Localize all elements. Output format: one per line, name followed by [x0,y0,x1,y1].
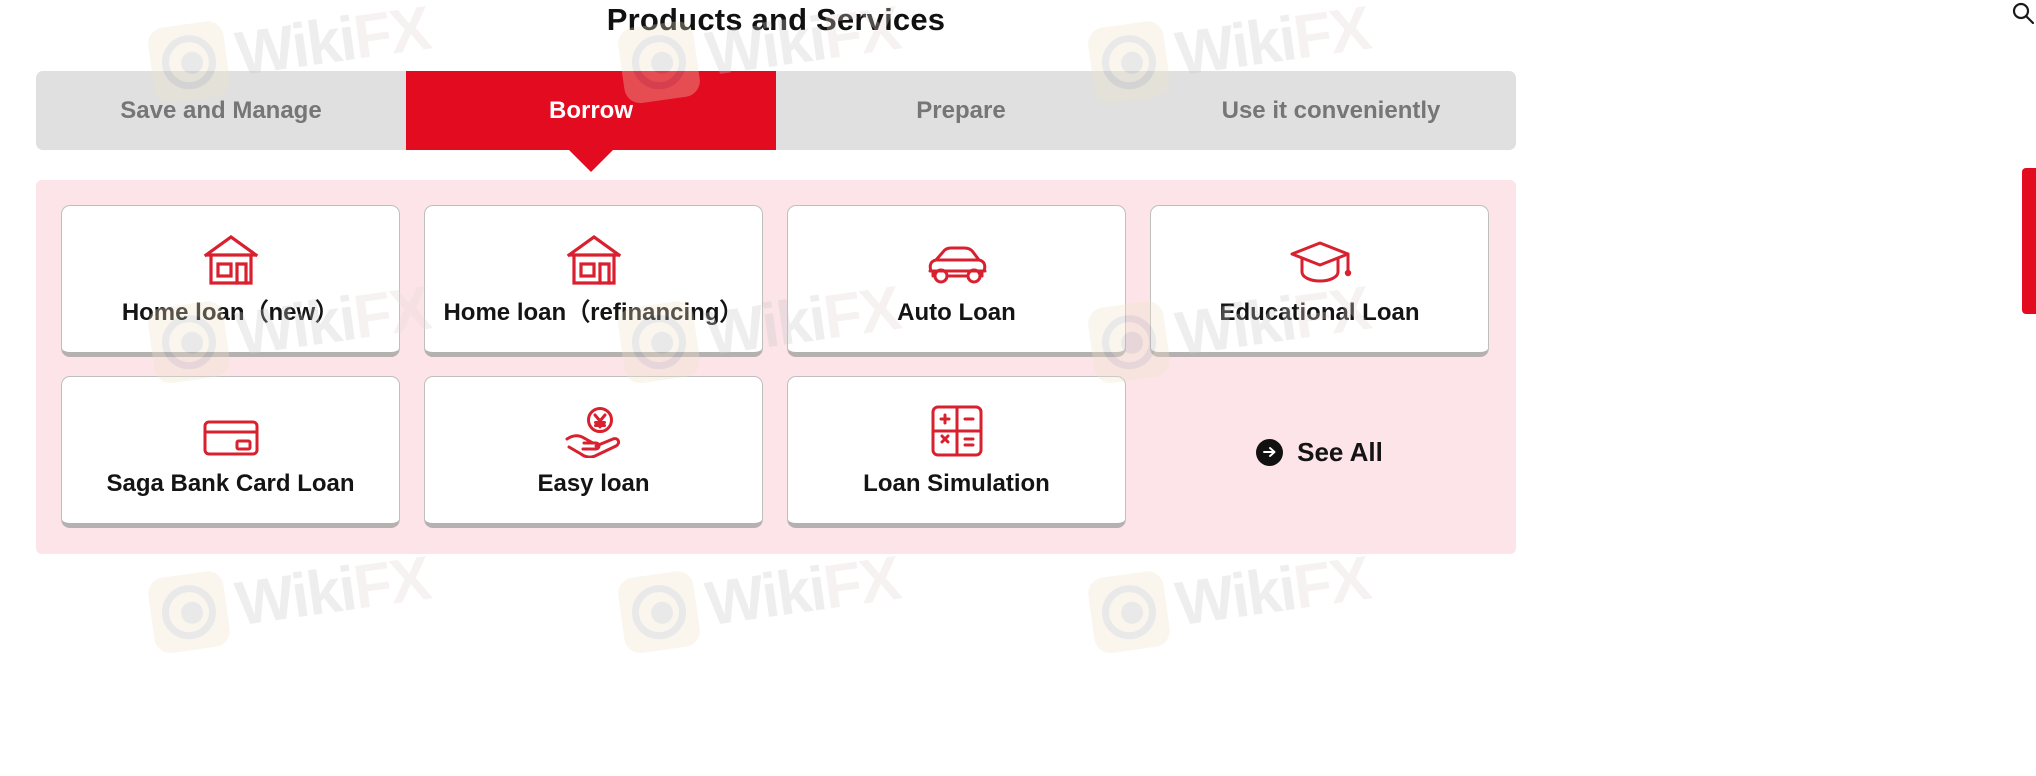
product-card-label: Auto Loan [897,300,1016,326]
car-icon [924,231,990,287]
product-category-tabs: Save and Manage Borrow Prepare Use it co… [36,71,1516,150]
product-card-home-loan-refinancing[interactable]: Home loan（refinancing） [424,205,763,357]
arrow-right-circle-icon [1256,439,1283,466]
tab-borrow[interactable]: Borrow [406,71,776,150]
product-card-label: Loan Simulation [863,471,1050,497]
products-and-services-section: Products and Services Save and Manage Bo… [0,0,2036,776]
product-card-label: Home loan（refinancing） [443,300,743,326]
product-card-label: Saga Bank Card Loan [106,471,354,497]
watermark: WikiFX [146,541,434,655]
tab-label: Save and Manage [120,97,321,125]
product-card-label: Easy loan [537,471,649,497]
product-card-label: Educational Loan [1219,300,1419,326]
product-card-loan-simulation[interactable]: Loan Simulation [787,376,1126,528]
tab-label: Use it conveniently [1222,97,1441,125]
watermark-text: WikiFX [1172,548,1373,636]
floating-side-tab[interactable] [2022,168,2036,314]
watermark-text: WikiFX [232,548,433,636]
tab-label: Borrow [549,97,633,125]
product-card-educational-loan[interactable]: Educational Loan [1150,205,1489,357]
watermark-logo-icon [146,569,232,655]
watermark-logo-icon [1086,569,1172,655]
watermark-text: WikiFX [702,548,903,636]
see-all-link[interactable]: See All [1150,376,1489,528]
active-tab-pointer-icon [569,150,613,172]
house-icon [565,231,623,287]
borrow-products-panel: Home loan（new） Home loan（refinancing） [36,180,1516,554]
credit-card-icon [202,402,260,458]
calculator-icon [930,402,984,458]
product-card-easy-loan[interactable]: Easy loan [424,376,763,528]
page-title: Products and Services [0,2,1552,38]
watermark-logo-icon [616,569,702,655]
hand-yen-icon [563,402,625,458]
watermark: WikiFX [616,541,904,655]
tab-save-and-manage[interactable]: Save and Manage [36,71,406,150]
tab-use-it-conveniently[interactable]: Use it conveniently [1146,71,1516,150]
tab-prepare[interactable]: Prepare [776,71,1146,150]
product-card-grid: Home loan（new） Home loan（refinancing） [61,205,1491,528]
tab-label: Prepare [916,97,1005,125]
product-card-saga-bank-card-loan[interactable]: Saga Bank Card Loan [61,376,400,528]
product-card-auto-loan[interactable]: Auto Loan [787,205,1126,357]
graduation-cap-icon [1288,231,1352,287]
see-all-label: See All [1297,437,1383,468]
product-card-home-loan-new[interactable]: Home loan（new） [61,205,400,357]
product-card-label: Home loan（new） [122,300,339,326]
search-icon[interactable] [2012,2,2034,29]
watermark: WikiFX [1086,541,1374,655]
house-icon [202,231,260,287]
